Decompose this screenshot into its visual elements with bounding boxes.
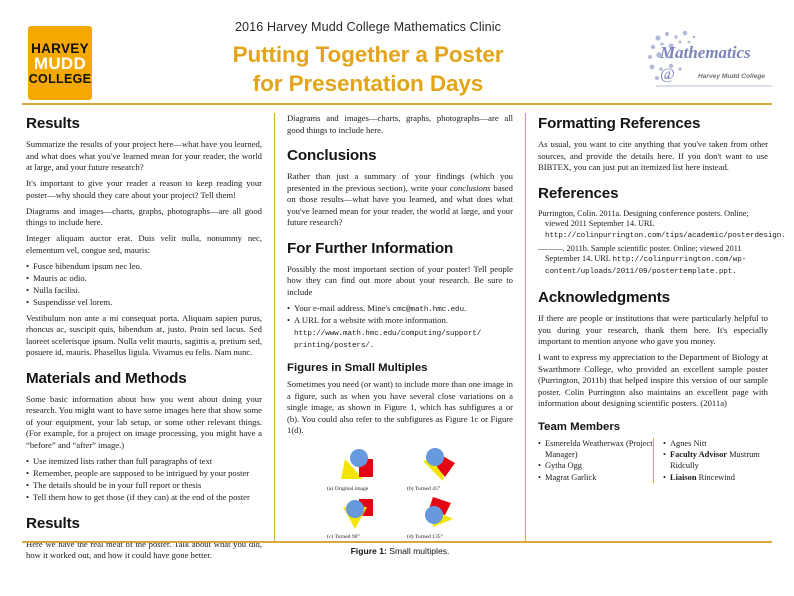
team-role-2: Liaison [670, 473, 697, 482]
section-heading-results-2: Results [26, 515, 262, 532]
team-members-list: Esmerelda Weatherwax (Project Manager) G… [538, 438, 768, 484]
conclusions-paragraph-1: Rather than just a summary of your findi… [287, 171, 513, 229]
url-line-1[interactable]: http://www.math.hmc.edu/computing/suppor… [294, 330, 481, 338]
results-paragraph-5: Vestibulum non ante a mi consequat porta… [26, 313, 262, 359]
figure-1: (a) Original image (b) Turned 45° [287, 445, 513, 557]
figure-1-caption-text: Small multiples. [387, 546, 450, 556]
reference-1-url[interactable]: http://colinpurrington.com/tips/academic… [545, 232, 786, 240]
figure-1-grid: (a) Original image (b) Turned 45° [320, 445, 480, 542]
column-middle: Diagrams and images—charts, graphs, phot… [274, 113, 526, 541]
acknowledgments-paragraph-2: I want to express my appreciation to the… [538, 352, 768, 410]
reference-2-dash: ———. [538, 244, 567, 253]
subfigure-a-caption: (a) Original image [321, 486, 399, 493]
subfigure-b: (b) Turned 45° [401, 445, 479, 493]
list-item: Tell them how to get those (if they can)… [26, 492, 262, 504]
mathematics-logo-subtitle: Harvey Mudd College [698, 73, 765, 80]
team-name-0: Agnes Nitt [670, 439, 707, 448]
further-bullet-list: Your e-mail address. Mine's cmc@math.hmc… [287, 303, 513, 352]
materials-paragraph-1: Some basic information about how you wen… [26, 394, 262, 452]
hmc-logo-line-1: HARVEY [31, 42, 89, 56]
figure-1-caption-label: Figure 1: [351, 546, 387, 556]
mathematics-logo-graphic: Mathematics @ Harvey Mudd College [644, 26, 774, 92]
team-role-1: Faculty Advisor [670, 450, 727, 459]
middle-intro-paragraph: Diagrams and images—charts, graphs, phot… [287, 113, 513, 136]
list-item: Agnes Nitt [663, 438, 768, 449]
team-members-column-left: Esmerelda Weatherwax (Project Manager) G… [538, 438, 653, 484]
bibtex-wordmark: IBTEX [544, 162, 569, 172]
section-heading-materials-and-methods: Materials and Methods [26, 370, 262, 387]
page-title-line-1: Putting Together a Poster [92, 41, 644, 70]
results-bullet-list: Fusce bibendum ipsum nec leo. Mauris ac … [26, 261, 262, 309]
footer-divider-rule [22, 541, 772, 543]
acknowledgments-paragraph-1: If there are people or institutions that… [538, 313, 768, 348]
page-title: Putting Together a Poster for Presentati… [92, 41, 644, 99]
url-lead-text: A URL for a website with more informatio… [294, 315, 448, 325]
subsection-heading-figures-in-small-multiples: Figures in Small Multiples [287, 362, 513, 374]
subfigure-b-caption: (b) Turned 45° [401, 486, 479, 493]
email-trailing-period: . [464, 303, 466, 313]
list-item: Esmerelda Weatherwax (Project Manager) [538, 438, 653, 460]
poster-columns: Results Summarize the results of your pr… [22, 113, 772, 541]
section-heading-formatting-references: Formatting References [538, 115, 768, 132]
list-item: Nulla facilisi. [26, 285, 262, 297]
list-item: The details should be in your full repor… [26, 480, 262, 492]
reference-entry-2: ———. 2011b. Sample scientific poster. On… [538, 244, 768, 278]
clinic-subtitle: 2016 Harvey Mudd College Mathematics Cli… [92, 20, 644, 34]
list-item-url: A URL for a website with more informatio… [287, 315, 513, 351]
list-item: Use itemized lists rather than full para… [26, 456, 262, 468]
email-lead-text: Your e-mail address. Mine's [294, 303, 393, 313]
conclusions-emphasis: conclusions [450, 183, 491, 193]
column-right: Formatting References As usual, you want… [526, 113, 772, 541]
section-heading-results: Results [26, 115, 262, 132]
reference-entry-1: Purrington, Colin. 2011a. Designing conf… [538, 209, 768, 242]
subfigure-a: (a) Original image [321, 445, 399, 493]
poster-header: HARVEY MUDD COLLEGE 2016 Harvey Mudd Col… [0, 0, 794, 104]
team-name-2: Rincewind [697, 473, 735, 482]
column-left: Results Summarize the results of your pr… [22, 113, 274, 541]
harvey-mudd-college-logo: HARVEY MUDD COLLEGE [28, 26, 92, 100]
mathematics-at-hmc-logo: Mathematics @ Harvey Mudd College [644, 26, 774, 92]
subfigure-c: (c) Turned 90° [321, 493, 399, 541]
header-divider-rule [22, 103, 772, 105]
results-paragraph-3: Diagrams and images—charts, graphs, phot… [26, 206, 262, 229]
section-heading-acknowledgments: Acknowledgments [538, 289, 768, 306]
subfigure-b-graphic [415, 445, 465, 485]
list-item-email: Your e-mail address. Mine's cmc@math.hmc… [287, 303, 513, 315]
formatting-paragraph-1: As usual, you want to cite anything that… [538, 139, 768, 174]
results-paragraph-2: It's important to give your reader a rea… [26, 178, 262, 201]
results-paragraph-1: Summarize the results of your project he… [26, 139, 262, 174]
section-heading-conclusions: Conclusions [287, 147, 513, 164]
page-title-line-2: for Presentation Days [92, 70, 644, 99]
further-paragraph-1: Possibly the most important section of y… [287, 264, 513, 299]
subfigure-c-graphic [335, 493, 385, 533]
list-item: Gytha Ogg [538, 460, 653, 471]
list-item: Fusce bibendum ipsum nec leo. [26, 261, 262, 273]
subsection-heading-team-members: Team Members [538, 421, 768, 433]
mathematics-logo-at: @ [660, 66, 675, 83]
section-heading-references: References [538, 185, 768, 202]
mathematics-logo-word: Mathematics [659, 43, 751, 62]
poster-canvas: HARVEY MUDD COLLEGE 2016 Harvey Mudd Col… [0, 0, 794, 596]
figure-1-caption: Figure 1: Small multiples. [287, 546, 513, 556]
email-address[interactable]: cmc@math.hmc.edu [393, 306, 464, 314]
list-item: Remember, people are supposed to be intr… [26, 468, 262, 480]
formatting-text-b: , you can just put an itemized list here… [569, 162, 729, 172]
subfigure-a-graphic [335, 445, 385, 485]
list-item: Suspendisse vel lorem. [26, 297, 262, 309]
url-line-2[interactable]: printing/posters/. [294, 342, 374, 350]
team-members-column-right: Agnes Nitt Faculty Advisor Mustrum Ridcu… [653, 438, 768, 484]
subfigure-d: (d) Turned 135° [401, 493, 479, 541]
hmc-logo-line-3: COLLEGE [29, 73, 92, 86]
title-block: 2016 Harvey Mudd College Mathematics Cli… [92, 0, 644, 99]
section-heading-for-further-information: For Further Information [287, 240, 513, 257]
subfigure-d-graphic [415, 493, 465, 533]
hmc-logo-line-2: MUDD [34, 55, 86, 72]
materials-bullet-list: Use itemized lists rather than full para… [26, 456, 262, 504]
results-paragraph-4: Integer aliquam auctor erat. Duis velit … [26, 233, 262, 256]
list-item: Liaison Rincewind [663, 472, 768, 483]
list-item: Faculty Advisor Mustrum Ridcully [663, 449, 768, 471]
list-item: Mauris ac odio. [26, 273, 262, 285]
reference-1-text: Purrington, Colin. 2011a. Designing conf… [538, 209, 749, 229]
figures-paragraph-1: Sometimes you need (or want) to include … [287, 379, 513, 437]
list-item: Magrat Garlick [538, 472, 653, 483]
